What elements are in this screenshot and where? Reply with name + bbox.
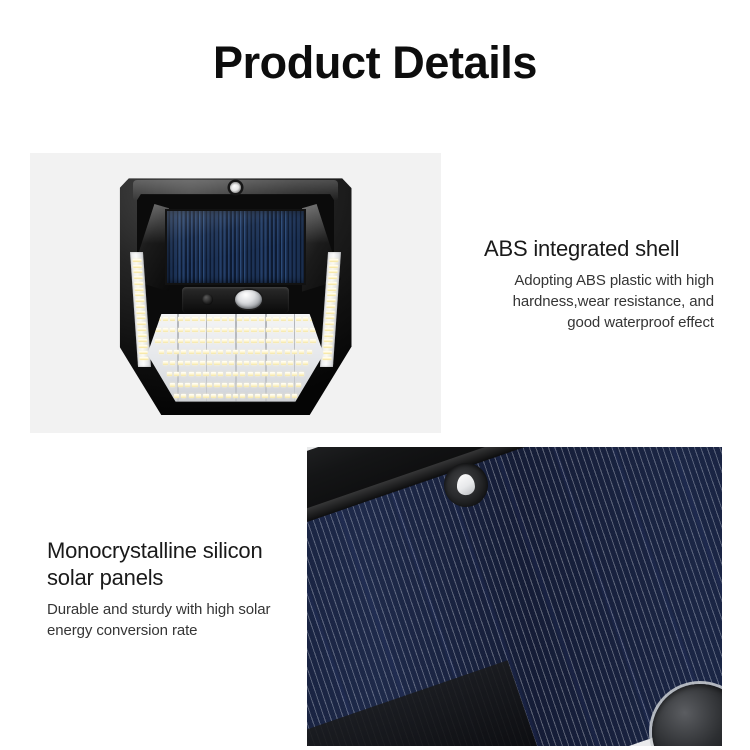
product-details-page: Product Details [0,0,750,750]
monocrystalline-solar-panel [167,211,304,283]
led-array [153,317,319,398]
feature-body-solar-panels: Durable and sturdy with high solar energ… [47,599,305,642]
feature-block-abs-shell: ABS integrated shell Adopting ABS plasti… [484,236,714,334]
sensor-bar [182,287,289,313]
light-sensor-lens-icon [202,294,213,305]
top-mounting-screw-hole-icon [230,182,241,193]
led-reflector-panel [147,314,323,402]
product-image-lamp-front-view [30,153,441,433]
feature-block-solar-panels: Monocrystalline silicon solar panels Dur… [47,538,305,641]
page-title: Product Details [0,36,750,90]
feature-body-abs-shell: Adopting ABS plastic with high hardness,… [484,270,714,334]
feature-title-solar-panels: Monocrystalline silicon solar panels [47,538,305,592]
lamp-illustration [120,171,352,415]
product-image-solar-panel-macro [307,447,722,746]
solar-panel-macro-illustration [307,447,722,746]
feature-title-abs-shell: ABS integrated shell [484,236,714,263]
pir-motion-sensor-dome [235,290,262,309]
